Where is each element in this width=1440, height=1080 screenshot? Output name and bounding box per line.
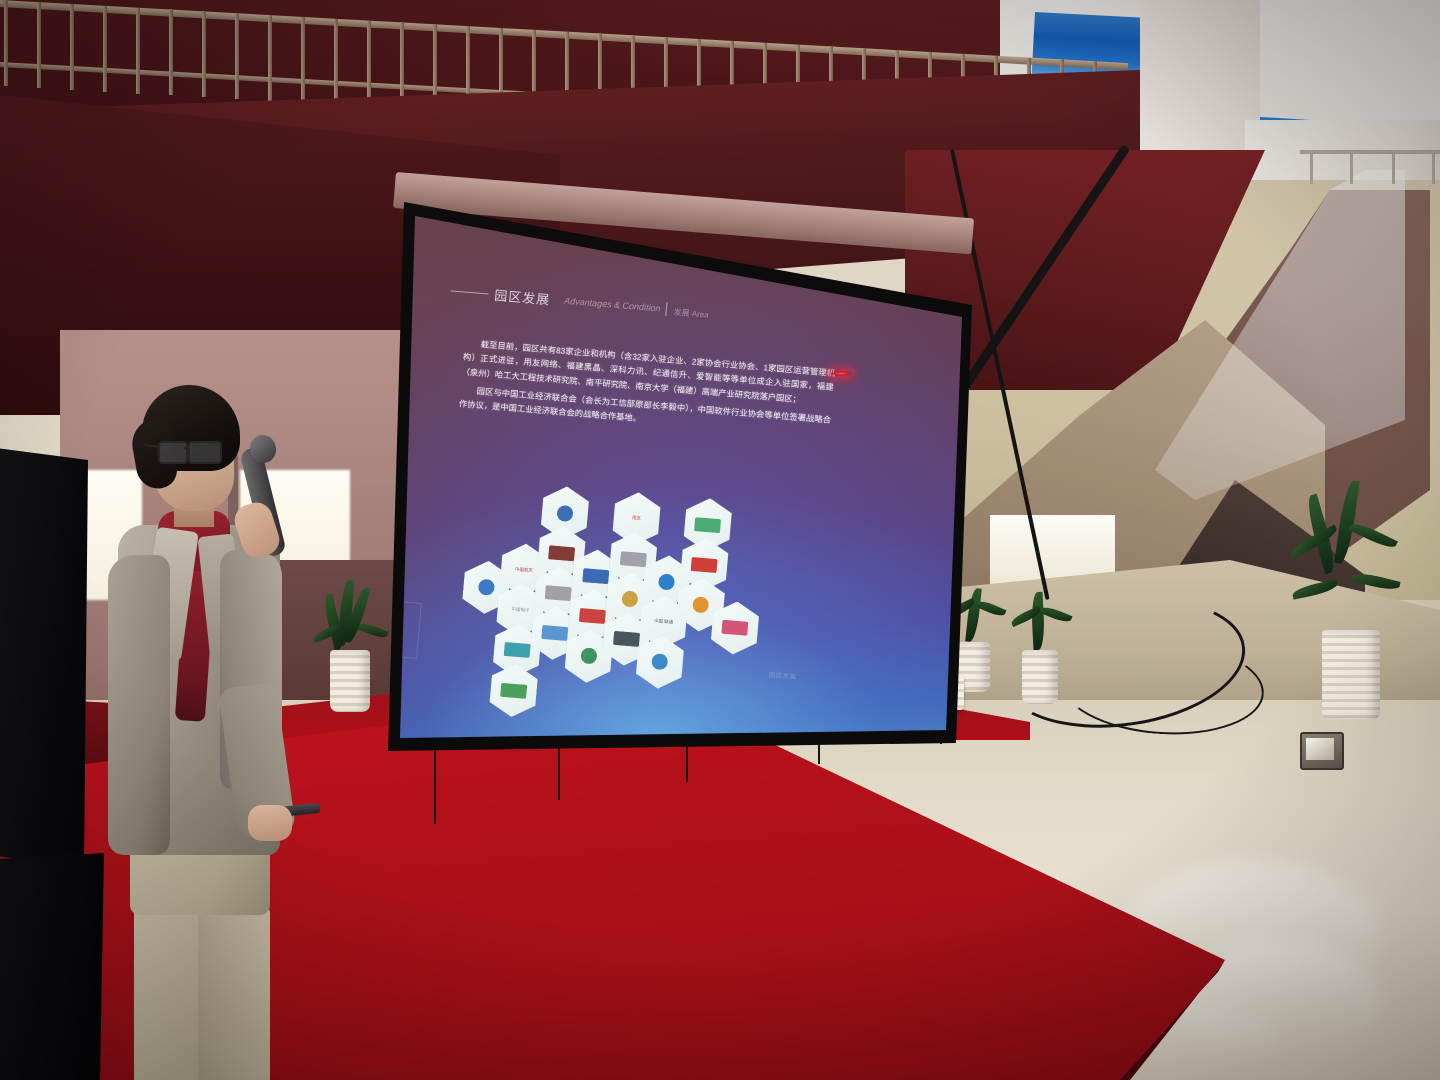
presenter-hand-left	[248, 805, 292, 841]
dark-red-plaque-logo	[548, 545, 575, 561]
partner-logo-honeycomb: 中国航天中国电子用友中国 联通	[456, 479, 831, 698]
presenter-leg-right	[198, 905, 270, 1080]
floor-uplight	[1300, 732, 1344, 770]
slide-body-text: 截至目前，园区共有83家企业和机构（含32家入驻企业、2家协会行业协会、1家园区…	[458, 336, 836, 446]
presenter-arm-left	[108, 555, 170, 855]
speaker-lower-cabinet	[0, 853, 104, 1080]
green-globe-logo	[580, 648, 597, 665]
green-curve-logo	[694, 517, 721, 533]
slide-title-cn: 园区发展	[494, 285, 551, 309]
red-x-logo	[578, 608, 605, 624]
glasses-lens-left	[158, 441, 188, 464]
dark-tower-logo	[612, 631, 639, 647]
speaker-upper-cabinet	[0, 448, 88, 868]
gold-emblem-logo	[621, 590, 638, 607]
hex-cell-green-leaf-logo	[488, 662, 538, 719]
title-rule-left	[451, 290, 489, 294]
railing-baluster	[235, 13, 239, 99]
plant-pot	[330, 650, 370, 712]
snowflake-logo	[541, 625, 568, 641]
railing-baluster	[202, 11, 206, 97]
grey-text-logo	[544, 585, 571, 601]
glasses-lens-right	[188, 441, 222, 464]
orange-flame-logo	[692, 596, 709, 613]
upper-right-railing	[1300, 150, 1440, 190]
slide-title-sub: 发展 Area	[673, 307, 709, 321]
blue-sphere-logo	[658, 573, 675, 590]
screen-surface: 园区发展 Advantages & Condition 发展 Area 截至目前…	[378, 178, 978, 758]
glasses-bridge	[184, 447, 190, 449]
title-rule-mid	[665, 302, 667, 316]
projection-screen: 园区发展 Advantages & Condition 发展 Area 截至目前…	[378, 160, 998, 760]
presenter	[100, 385, 330, 1080]
railing-baluster	[136, 8, 140, 94]
blue-square-logo	[582, 568, 609, 584]
chinese-text-logo: 中国 联通	[646, 614, 681, 631]
blue-ring-runner-logo	[556, 504, 573, 521]
railing-baluster	[169, 9, 173, 95]
railing-baluster	[37, 2, 41, 88]
photo-scene: 园区发展 Advantages & Condition 发展 Area 截至目前…	[0, 0, 1440, 1080]
teal-wave-logo	[503, 642, 530, 658]
laser-pointer-dot	[830, 371, 852, 376]
grey-small-text-logo	[619, 551, 646, 567]
railing-baluster	[4, 0, 8, 86]
red-wordmark-logo: 用友	[619, 510, 654, 527]
railing-baluster	[268, 15, 272, 101]
pink-arc-logo	[721, 620, 748, 636]
railing-baluster	[400, 22, 404, 108]
railing-baluster	[367, 21, 371, 107]
presenter-leg-left	[134, 905, 202, 1080]
railing-baluster	[301, 17, 305, 103]
plant-pot	[1322, 630, 1380, 720]
blue-circle-logo	[478, 579, 495, 596]
slide-title-en: Advantages & Condition	[564, 296, 661, 314]
red-bird-logo: 中国航天	[506, 562, 541, 579]
green-leaf-logo	[500, 683, 527, 699]
blue-swirl-logo	[651, 654, 668, 671]
railing-baluster	[70, 4, 74, 90]
railing-baluster	[334, 19, 338, 105]
railing-baluster	[103, 6, 107, 92]
uplight-lens	[1306, 738, 1334, 760]
plant-pot	[1022, 650, 1058, 704]
red-lantern-logo	[691, 557, 718, 573]
grey-wordmark-logo: 中国电子	[503, 602, 538, 619]
loudspeaker-stack	[0, 448, 114, 1080]
slide-content: 园区发展 Advantages & Condition 发展 Area 截至目前…	[378, 178, 976, 758]
